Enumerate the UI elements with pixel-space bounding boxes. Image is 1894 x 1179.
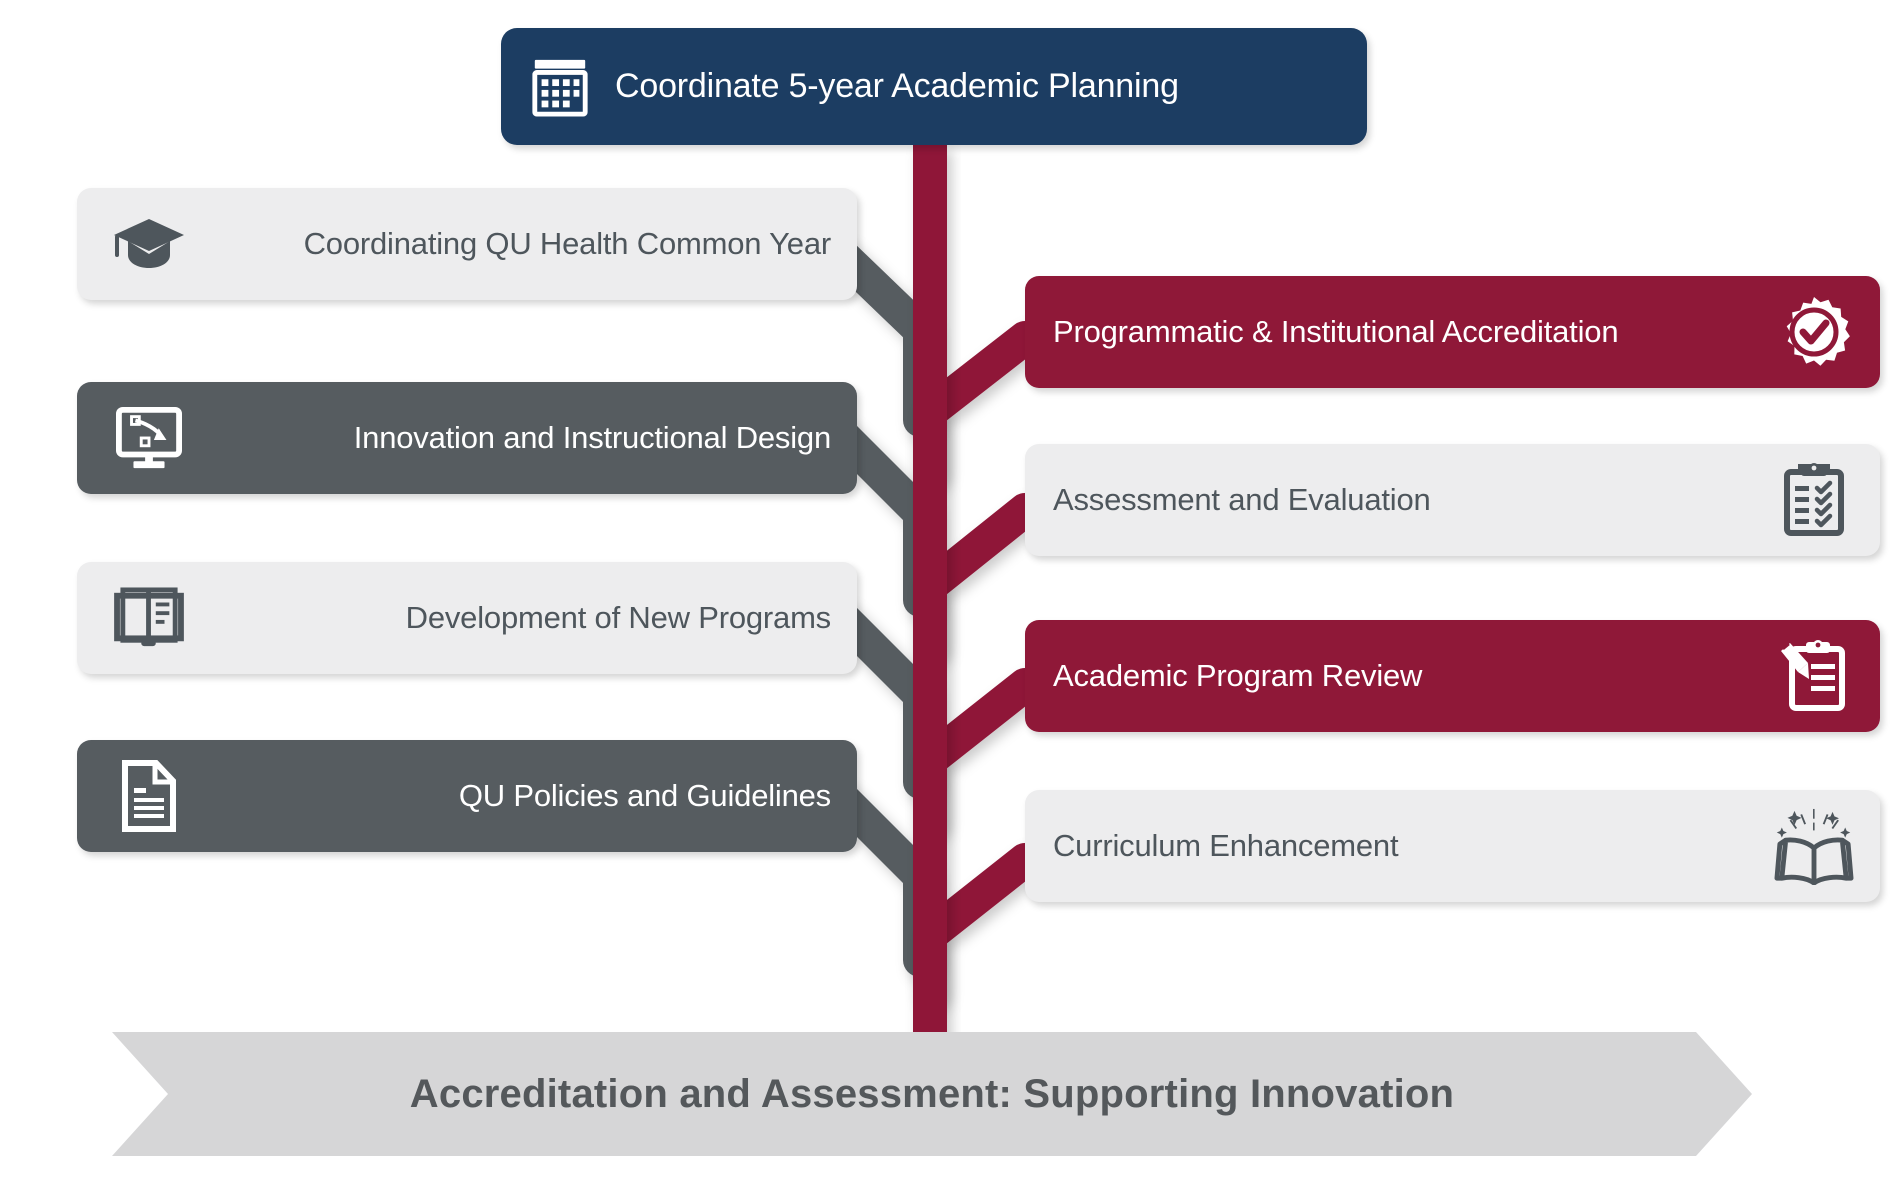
open-book-icon [103, 587, 195, 649]
right-card-academic-program-review[interactable]: Academic Program Review [1025, 620, 1880, 732]
document-icon [103, 760, 195, 832]
diagram-canvas: Coordinate 5-year Academic Planning Coor… [0, 0, 1894, 1179]
right-card-curriculum-enhancement[interactable]: Curriculum Enhancement [1025, 790, 1880, 902]
clipboard-pencil-icon [1766, 639, 1862, 713]
right-card-programmatic-institutional-accreditation[interactable]: Programmatic & Institutional Accreditati… [1025, 276, 1880, 388]
clipboard-checklist-icon [1766, 463, 1862, 537]
right-card-label: Academic Program Review [1053, 658, 1422, 694]
seal-check-icon [1766, 295, 1862, 369]
banner-text: Accreditation and Assessment: Supporting… [410, 1072, 1454, 1117]
summary-banner: Accreditation and Assessment: Supporting… [112, 1032, 1752, 1156]
header-title: Coordinate 5-year Academic Planning [615, 67, 1179, 106]
left-card-innovation-and-instructional-design[interactable]: Innovation and Instructional Design [77, 382, 857, 494]
right-card-assessment-and-evaluation[interactable]: Assessment and Evaluation [1025, 444, 1880, 556]
left-card-coordinating-qu-health-common-year[interactable]: Coordinating QU Health Common Year [77, 188, 857, 300]
right-card-label: Programmatic & Institutional Accreditati… [1053, 314, 1618, 350]
header-card[interactable]: Coordinate 5-year Academic Planning [501, 28, 1367, 145]
left-card-qu-policies-and-guidelines[interactable]: QU Policies and Guidelines [77, 740, 857, 852]
left-card-label: QU Policies and Guidelines [195, 778, 831, 814]
book-sparkle-icon [1766, 807, 1862, 885]
calendar-icon [529, 56, 591, 118]
left-card-label: Innovation and Instructional Design [195, 420, 831, 456]
monitor-design-icon [103, 405, 195, 471]
left-card-label: Coordinating QU Health Common Year [195, 226, 831, 262]
right-card-label: Curriculum Enhancement [1053, 828, 1398, 864]
graduation-cap-icon [103, 213, 195, 275]
left-card-label: Development of New Programs [195, 600, 831, 636]
left-card-development-of-new-programs[interactable]: Development of New Programs [77, 562, 857, 674]
right-card-label: Assessment and Evaluation [1053, 482, 1431, 518]
